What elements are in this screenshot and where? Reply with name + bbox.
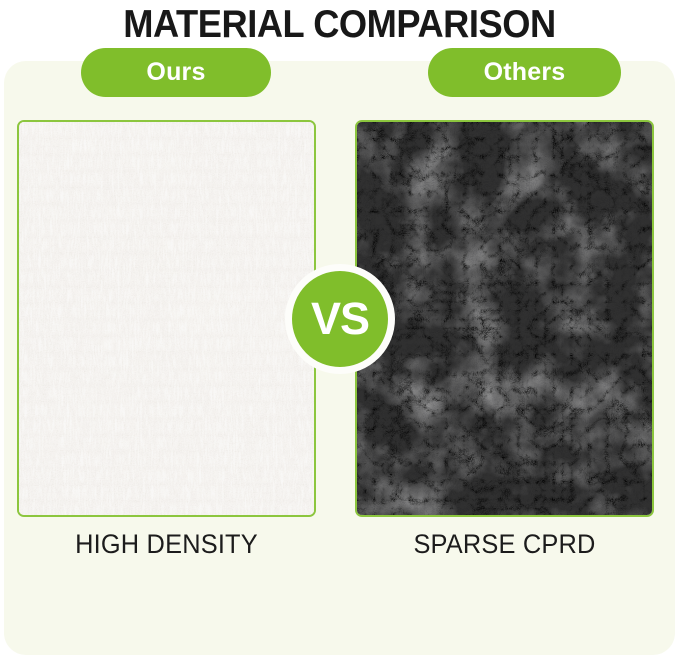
caption-others: SPARSE CPRD — [364, 529, 645, 560]
badge-ours: Ours — [81, 48, 271, 97]
material-comparison-infographic: MATERIAL COMPARISON Ours Others — [0, 0, 679, 665]
swatch-ours-high-density — [17, 120, 316, 517]
vs-badge: VS — [285, 264, 395, 374]
light-felt-texture-image — [19, 122, 314, 515]
badge-others: Others — [428, 48, 621, 97]
badge-others-label: Others — [484, 58, 566, 87]
badge-ours-label: Ours — [146, 58, 205, 87]
swatch-others-sparse-cprd — [355, 120, 654, 517]
dark-fiber-texture-image — [357, 122, 652, 515]
caption-ours: HIGH DENSITY — [26, 529, 307, 560]
vs-label: VS — [311, 293, 369, 345]
